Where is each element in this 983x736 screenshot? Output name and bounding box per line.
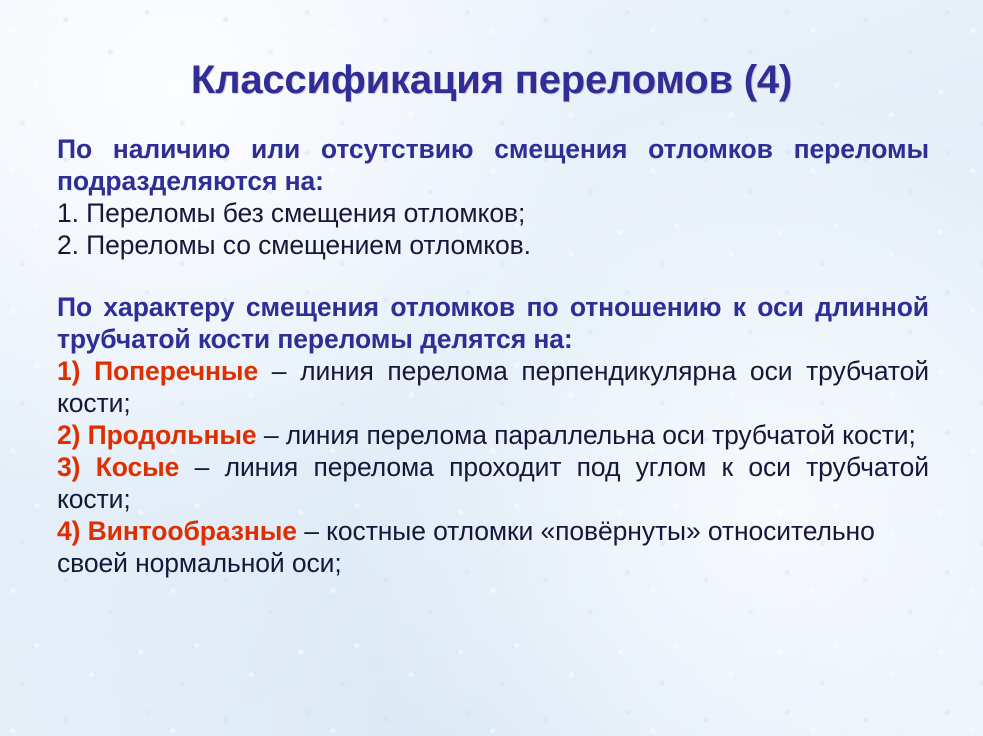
section-displacement-presence: По наличию или отсутствию смещения отлом… bbox=[57, 133, 929, 261]
section-one-heading: По наличию или отсутствию смещения отлом… bbox=[57, 133, 929, 197]
page-title: Классификация переломов (4) bbox=[0, 55, 983, 105]
fracture-item-transverse: 1) Поперечные – линия перелома перпендик… bbox=[57, 355, 929, 419]
slide-canvas: Классификация переломов (4) По наличию и… bbox=[0, 0, 983, 736]
fracture-item-longitudinal-term bbox=[80, 420, 87, 450]
fracture-item-spiral: 4) Винтообразные – костные отломки «повё… bbox=[57, 515, 929, 579]
fracture-item-longitudinal-label: Продольные bbox=[88, 420, 257, 450]
fracture-item-spiral-marker: 4) bbox=[57, 516, 80, 546]
fracture-item-longitudinal-marker: 2) bbox=[57, 420, 80, 450]
fracture-item-longitudinal: 2) Продольные – линия перелома параллель… bbox=[57, 419, 929, 451]
fracture-item-oblique: 3) Косые – линия перелома проходит под у… bbox=[57, 451, 929, 515]
fracture-item-oblique-term bbox=[80, 452, 95, 482]
slide-body: По наличию или отсутствию смещения отлом… bbox=[57, 133, 929, 579]
section-spacer bbox=[57, 261, 929, 291]
section-one-item-1: 1. Переломы без смещения отломков; bbox=[57, 197, 929, 229]
section-displacement-character: По характеру смещения отломков по отноше… bbox=[57, 291, 929, 579]
fracture-item-transverse-term bbox=[80, 356, 94, 386]
fracture-item-longitudinal-description: – линия перелома параллельна оси трубчат… bbox=[257, 420, 916, 450]
section-two-heading: По характеру смещения отломков по отноше… bbox=[57, 291, 929, 355]
fracture-item-oblique-label: Косые bbox=[96, 452, 180, 482]
fracture-item-spiral-term bbox=[80, 516, 87, 546]
fracture-item-transverse-marker: 1) bbox=[57, 356, 80, 386]
fracture-item-oblique-marker: 3) bbox=[57, 452, 80, 482]
fracture-item-transverse-label: Поперечные bbox=[94, 356, 258, 386]
fracture-item-spiral-label: Винтообразные bbox=[88, 516, 297, 546]
section-one-item-2: 2. Переломы со смещением отломков. bbox=[57, 229, 929, 261]
fracture-item-oblique-description: – линия перелома проходит под углом к ос… bbox=[57, 452, 929, 514]
